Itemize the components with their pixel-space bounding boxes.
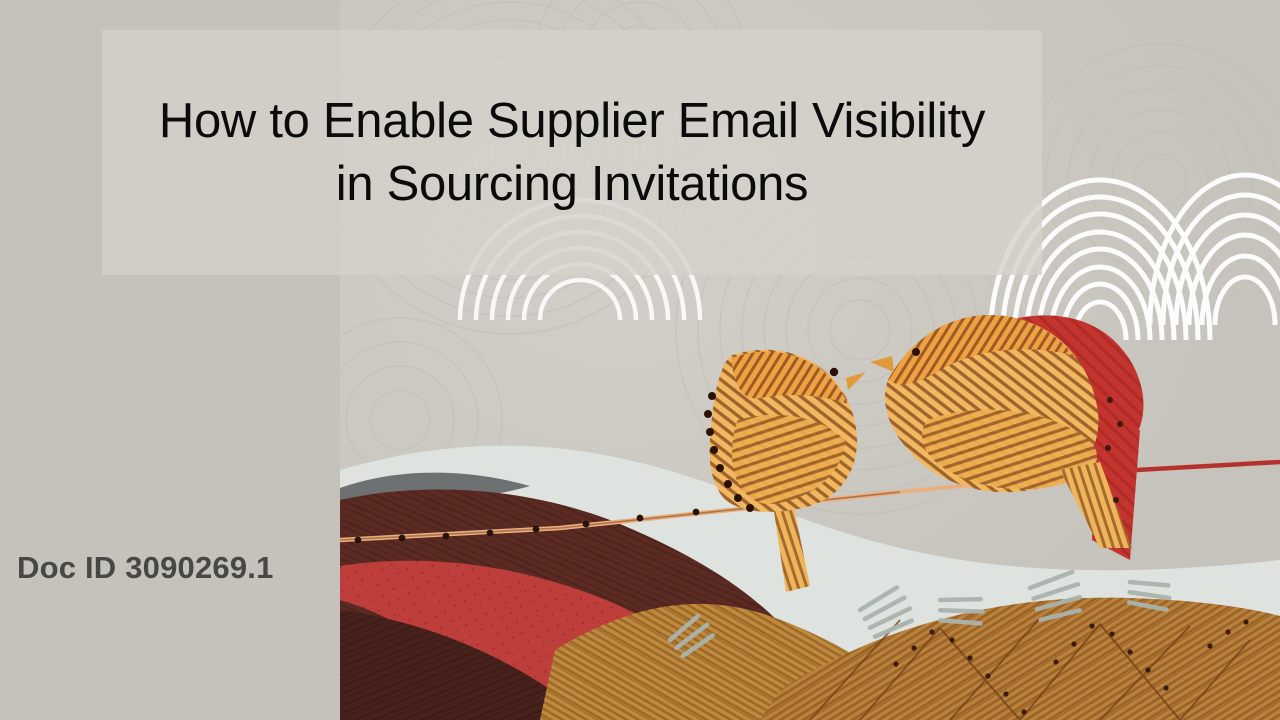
- slide: How to Enable Supplier Email Visibility …: [0, 0, 1280, 720]
- doc-id-label: Doc ID 3090269.1: [17, 550, 274, 586]
- left-bird-eye: [830, 368, 838, 376]
- right-bird-eye: [912, 348, 920, 356]
- page-title: How to Enable Supplier Email Visibility …: [145, 90, 999, 215]
- title-box: How to Enable Supplier Email Visibility …: [102, 30, 1042, 275]
